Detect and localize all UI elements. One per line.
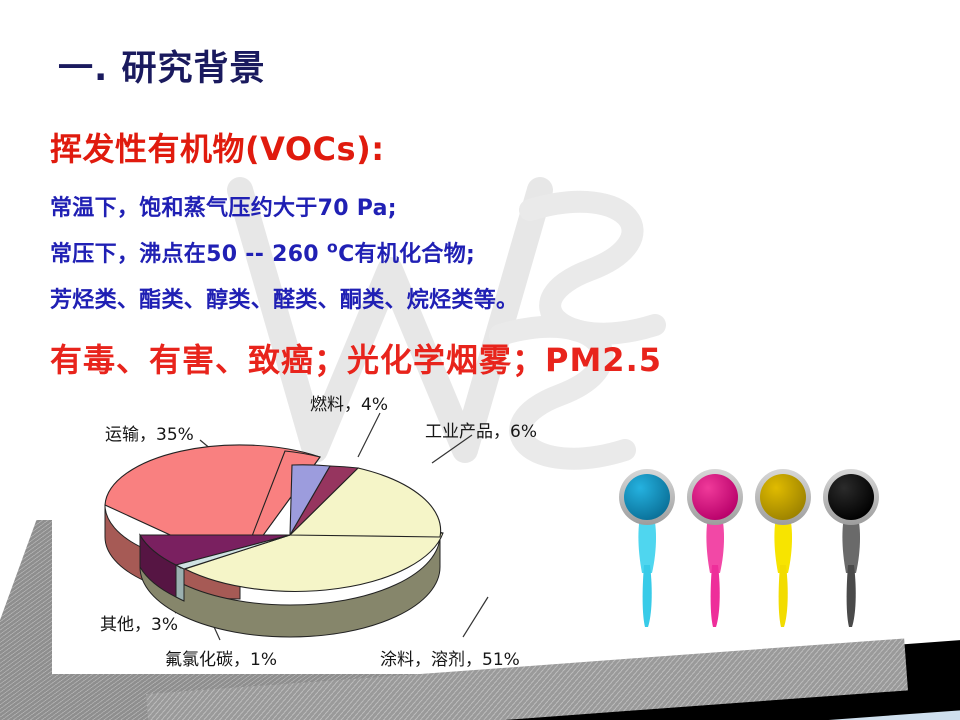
slide-canvas: 一. 研究背景 挥发性有机物(VOCs): 常温下，饱和蒸气压约大于70 Pa;… bbox=[0, 0, 960, 720]
pie-label-cfc: 氟氯化碳，1% bbox=[165, 645, 277, 670]
cmyk-ink-pots-graphic bbox=[612, 455, 902, 635]
yellow-ink-pot bbox=[755, 469, 811, 627]
cmyk-ink-pots-image bbox=[612, 455, 902, 635]
topic-title: 挥发性有机物(VOCs): bbox=[50, 124, 385, 170]
page-title: 一. 研究背景 bbox=[58, 40, 265, 91]
black-ink-pot bbox=[823, 469, 879, 627]
pie-label-industrial-products: 工业产品，6% bbox=[425, 417, 537, 442]
bullet-line-2-head: 常压下，沸点在50 -- 260 bbox=[50, 242, 327, 267]
bullet-line-1: 常温下，饱和蒸气压约大于70 Pa; bbox=[50, 190, 397, 222]
bullet-line-2: 常压下，沸点在50 -- 260 oC有机化合物; bbox=[50, 236, 475, 268]
bullet-line-2-tail: C有机化合物; bbox=[338, 242, 475, 267]
pie-label-coatings-solvents: 涂料，溶剂，51% bbox=[380, 645, 520, 670]
pie-label-other: 其他，3% bbox=[100, 610, 178, 635]
cyan-ink-pot bbox=[619, 469, 675, 627]
pie-label-transport: 运输，35% bbox=[105, 420, 194, 445]
magenta-ink-pot bbox=[687, 469, 743, 627]
degree-symbol: o bbox=[327, 238, 338, 257]
hazard-statement: 有毒、有害、致癌；光化学烟雾；PM2.5 bbox=[50, 335, 662, 381]
voc-source-pie-chart: 运输，35% 燃料，4% 工业产品，6% 其他，3% 氟氯化碳，1% 涂料，溶剂… bbox=[80, 385, 620, 675]
bullet-line-3: 芳烃类、酯类、醇类、醛类、酮类、烷烃类等。 bbox=[50, 282, 518, 314]
pie-label-fuel: 燃料，4% bbox=[310, 390, 388, 415]
